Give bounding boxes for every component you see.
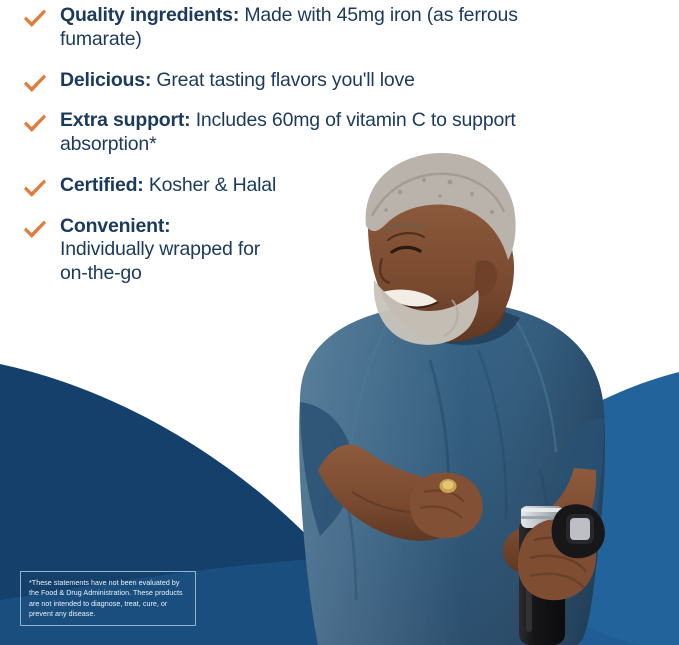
benefits-list: Quality ingredients: Made with 45mg iron… <box>0 0 540 303</box>
benefit-lead: Quality ingredients: <box>60 4 239 26</box>
fda-disclaimer-box: *These statements have not been evaluate… <box>20 571 196 626</box>
benefit-body: Individually wrapped for on-the-go <box>60 238 260 284</box>
benefit-body: Kosher & Halal <box>149 174 276 196</box>
benefit-lead: Extra support: <box>60 109 190 131</box>
check-icon <box>22 178 48 200</box>
check-icon <box>22 8 48 30</box>
benefit-text: Convenient: Individually wrapped for on-… <box>60 215 290 286</box>
benefit-body: Great tasting flavors you'll love <box>156 69 414 91</box>
product-benefits-panel: Quality ingredients: Made with 45mg iron… <box>0 0 679 645</box>
benefit-text: Certified: Kosher & Halal <box>60 174 276 198</box>
benefit-item-delicious: Delicious: Great tasting flavors you'll … <box>0 69 540 93</box>
benefit-text: Delicious: Great tasting flavors you'll … <box>60 69 415 93</box>
benefit-text: Extra support: Includes 60mg of vitamin … <box>60 109 530 157</box>
check-icon <box>22 113 48 135</box>
benefit-item-convenient: Convenient: Individually wrapped for on-… <box>0 215 540 286</box>
benefit-lead: Certified: <box>60 174 144 196</box>
fda-disclaimer-text: *These statements have not been evaluate… <box>29 579 183 618</box>
benefit-lead: Convenient: <box>60 215 170 237</box>
benefit-item-certified: Certified: Kosher & Halal <box>0 174 540 198</box>
benefit-text: Quality ingredients: Made with 45mg iron… <box>60 4 530 52</box>
benefit-item-quality-ingredients: Quality ingredients: Made with 45mg iron… <box>0 4 540 52</box>
benefit-item-extra-support: Extra support: Includes 60mg of vitamin … <box>0 109 540 157</box>
check-icon <box>22 219 48 241</box>
benefit-lead: Delicious: <box>60 69 151 91</box>
check-icon <box>22 73 48 95</box>
